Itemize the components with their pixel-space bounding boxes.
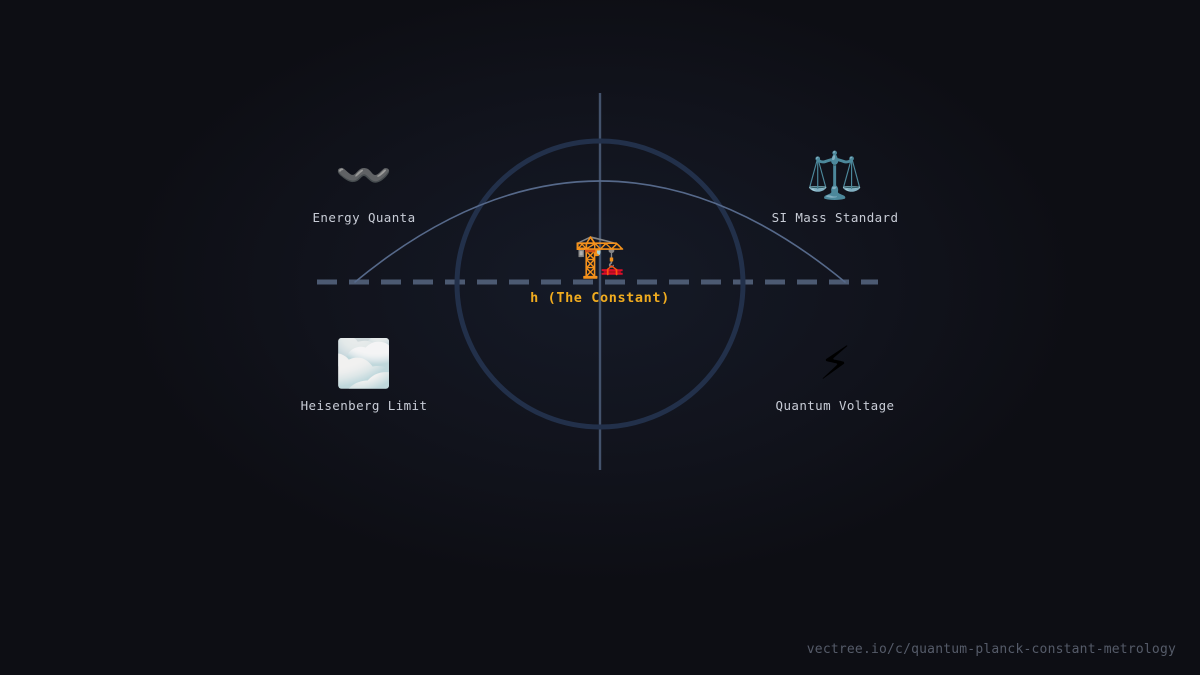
- node-label-quantum-voltage: Quantum Voltage: [735, 398, 935, 413]
- node-label-energy-quanta: Energy Quanta: [264, 210, 464, 225]
- construction-crane-icon: 🏗️: [450, 232, 750, 280]
- source-url: vectree.io/c/quantum-planck-constant-met…: [807, 642, 1176, 657]
- center-node-h-constant[interactable]: 🏗️ h (The Constant): [450, 232, 750, 306]
- wavy-dash-icon: 〰️: [264, 148, 464, 202]
- node-label-heisenberg-limit: Heisenberg Limit: [264, 398, 464, 413]
- node-energy-quanta[interactable]: 〰️ Energy Quanta: [264, 148, 464, 225]
- center-node-label: h (The Constant): [450, 290, 750, 306]
- node-label-si-mass-standard: SI Mass Standard: [735, 210, 935, 225]
- high-voltage-icon: ⚡: [735, 336, 935, 390]
- fog-icon: 🌫️: [264, 336, 464, 390]
- footer-bar: Vectree The role of the Planck constant …: [0, 485, 1200, 675]
- node-si-mass-standard[interactable]: ⚖️ SI Mass Standard: [735, 148, 935, 225]
- slide-canvas: 🏗️ h (The Constant) 〰️ Energy Quanta ⚖️ …: [0, 0, 1200, 675]
- balance-scale-icon: ⚖️: [735, 148, 935, 202]
- node-quantum-voltage[interactable]: ⚡ Quantum Voltage: [735, 336, 935, 413]
- concept-diagram: 🏗️ h (The Constant) 〰️ Energy Quanta ⚖️ …: [0, 0, 1200, 490]
- node-heisenberg-limit[interactable]: 🌫️ Heisenberg Limit: [264, 336, 464, 413]
